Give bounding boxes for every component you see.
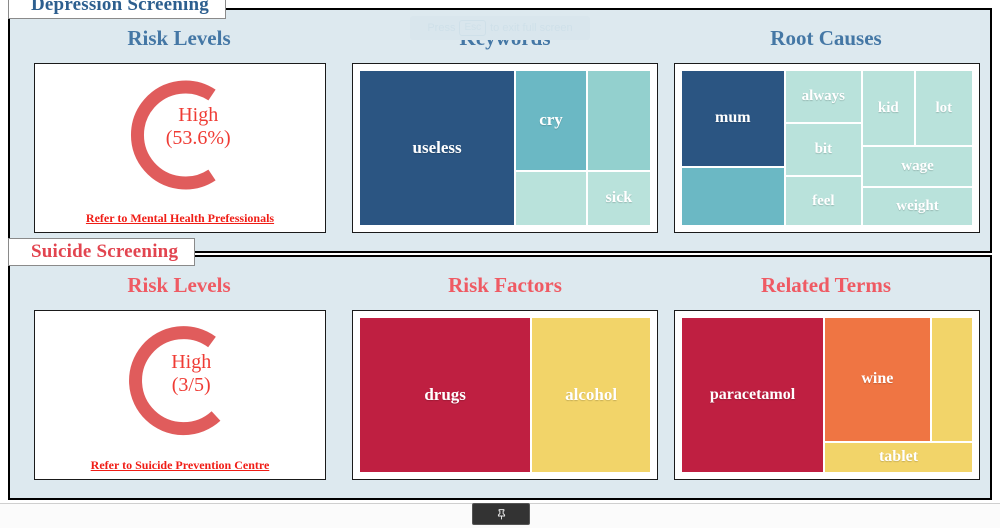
panel-depression-screening: Depression Screening Risk Levels High (5…	[8, 8, 992, 253]
column-depression-risk-levels: Risk Levels High (53.6%) Refer to Mental…	[22, 10, 336, 251]
treemap-related-terms: paracetamolwinetablet	[681, 317, 973, 473]
treemap-cell-tablet[interactable]: tablet	[824, 442, 973, 473]
referral-link-mental-health[interactable]: Refer to Mental Health Prefessionals	[35, 211, 325, 226]
screening-dashboard: Press Esc to exit full screen Depression…	[0, 0, 1000, 527]
column-related-terms: Related Terms paracetamolwinetablet	[670, 257, 982, 498]
column-risk-factors: Risk Factors drugsalcohol	[348, 257, 662, 498]
treemap-cell-wage[interactable]: wage	[862, 146, 973, 187]
card-risk-factors: drugsalcohol	[352, 310, 658, 480]
tab-depression-label: Depression Screening	[31, 0, 209, 16]
treemap-cell-cry[interactable]: cry	[515, 70, 587, 171]
gauge-suicide-value: (3/5)	[171, 374, 211, 397]
card-related-terms: paracetamolwinetablet	[674, 310, 980, 480]
card-root-causes: mumalwaysbitfeelkidlotwageweight	[674, 63, 980, 233]
treemap-cell[interactable]	[681, 167, 785, 226]
panel-suicide-screening: Suicide Screening Risk Levels High (3/5)	[8, 255, 992, 500]
gauge-depression-label: High (53.6%)	[166, 104, 231, 150]
title-suicide-risk-levels: Risk Levels	[22, 273, 336, 298]
treemap-cell[interactable]	[587, 70, 651, 171]
column-suicide-risk-levels: Risk Levels High (3/5) Refer to Suicide …	[22, 257, 336, 498]
treemap-keywords: uselesscrysick	[359, 70, 651, 226]
gauge-suicide: High (3/5)	[35, 311, 325, 453]
tab-suicide-screening[interactable]: Suicide Screening	[8, 238, 195, 266]
card-suicide-risk-levels: High (3/5) Refer to Suicide Prevention C…	[34, 310, 326, 480]
treemap-cell-alcohol[interactable]: alcohol	[531, 317, 651, 473]
treemap-cell-paracetamol[interactable]: paracetamol	[681, 317, 824, 473]
card-depression-risk-levels: High (53.6%) Refer to Mental Health Pref…	[34, 63, 326, 233]
unpin-toolbar-button[interactable]	[472, 503, 530, 525]
treemap-cell-lot[interactable]: lot	[915, 70, 973, 146]
treemap-cell-kid[interactable]: kid	[862, 70, 915, 146]
fullscreen-hint-suffix: to exit full screen	[490, 22, 573, 34]
gauge-depression-level: High	[178, 104, 218, 126]
treemap-cell-mum[interactable]: mum	[681, 70, 785, 167]
treemap-risk-factors: drugsalcohol	[359, 317, 651, 473]
gauge-depression-value: (53.6%)	[166, 127, 231, 150]
card-keywords: uselesscrysick	[352, 63, 658, 233]
column-root-causes: Root Causes mumalwaysbitfeelkidlotwagewe…	[670, 10, 982, 251]
title-risk-factors: Risk Factors	[348, 273, 662, 298]
treemap-cell-weight[interactable]: weight	[862, 187, 973, 226]
gauge-suicide-level: High	[171, 351, 211, 373]
title-root-causes: Root Causes	[670, 26, 982, 51]
treemap-cell-sick[interactable]: sick	[587, 171, 651, 226]
title-related-terms: Related Terms	[670, 273, 982, 298]
tab-depression-screening[interactable]: Depression Screening	[8, 0, 226, 19]
referral-link-suicide-prevention[interactable]: Refer to Suicide Prevention Centre	[35, 458, 325, 473]
fullscreen-hint-prefix: Press	[427, 22, 455, 34]
treemap-cell-wine[interactable]: wine	[824, 317, 931, 442]
title-depression-risk-levels: Risk Levels	[22, 26, 336, 51]
unpin-icon	[495, 508, 508, 521]
column-keywords: Keywords uselesscrysick	[348, 10, 662, 251]
treemap-cell-bit[interactable]: bit	[785, 123, 862, 176]
treemap-cell-always[interactable]: always	[785, 70, 862, 123]
fullscreen-exit-hint: Press Esc to exit full screen	[410, 16, 590, 40]
treemap-root-causes: mumalwaysbitfeelkidlotwageweight	[681, 70, 973, 226]
treemap-cell-useless[interactable]: useless	[359, 70, 515, 226]
tab-suicide-label: Suicide Screening	[31, 241, 178, 263]
treemap-cell-drugs[interactable]: drugs	[359, 317, 531, 473]
treemap-cell[interactable]	[515, 171, 587, 226]
gauge-suicide-label: High (3/5)	[171, 351, 211, 397]
treemap-cell-feel[interactable]: feel	[785, 176, 862, 226]
treemap-cell[interactable]	[931, 317, 973, 442]
esc-key-badge: Esc	[459, 20, 486, 36]
gauge-depression: High (53.6%)	[35, 64, 325, 206]
